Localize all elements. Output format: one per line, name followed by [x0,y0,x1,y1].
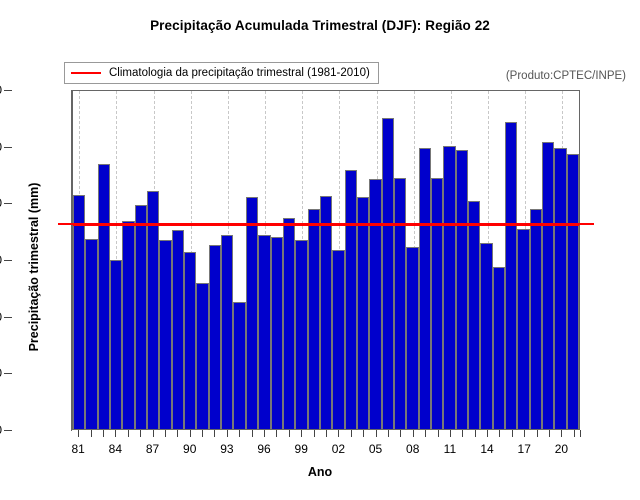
x-axis-title: Ano [0,465,640,479]
x-axis-tick-label: 14 [480,442,493,456]
y-axis-tick-label: 600 [0,253,2,267]
x-axis-tick-label: 02 [332,442,345,456]
y-axis-tick-label: 1000 [0,140,2,154]
x-axis-tick [78,430,79,437]
x-axis-tick [376,430,377,437]
x-axis-tick [289,430,290,437]
y-axis-tick [4,373,12,374]
x-axis-tick [190,430,191,437]
x-axis-tick-label: 96 [257,442,270,456]
x-axis-tick [512,430,513,437]
bar [159,240,171,429]
x-axis-tick [450,430,451,437]
x-axis-tick [103,430,104,437]
bar [480,243,492,429]
bar [443,146,455,429]
x-axis-tick [363,430,364,437]
x-axis-tick [252,430,253,437]
bar [172,230,184,429]
bar [135,205,147,429]
x-axis: 8184879093969902050811141720 [72,430,580,470]
x-axis-tick [580,430,581,437]
y-axis-tick [4,430,12,431]
bar [184,252,196,429]
chart-title: Precipitação Acumulada Trimestral (DJF):… [0,18,640,33]
x-axis-tick [165,430,166,437]
x-axis-tick-label: 87 [146,442,159,456]
bar [98,164,110,429]
x-axis-tick [438,430,439,437]
bar [419,148,431,429]
x-axis-tick [388,430,389,437]
x-axis-tick [475,430,476,437]
x-axis-tick-label: 99 [295,442,308,456]
bar [209,245,221,429]
bar-series [73,91,579,429]
x-axis-tick-label: 05 [369,442,382,456]
bar [542,142,554,429]
y-axis-tick [4,90,12,91]
y-axis-tick [4,147,12,148]
bar [357,197,369,429]
x-axis-tick [214,430,215,437]
x-axis-tick [140,430,141,437]
legend-line-swatch [71,72,101,74]
bar [369,179,381,429]
bar [73,195,85,429]
y-axis-tick-label: 0 [0,423,2,437]
x-axis-tick [425,430,426,437]
chart-container: Precipitação Acumulada Trimestral (DJF):… [0,0,640,500]
x-axis-tick [153,430,154,437]
bar [505,122,517,429]
bar [493,267,505,429]
bar [233,302,245,429]
bar [122,221,134,429]
x-axis-tick [462,430,463,437]
bar [295,240,307,429]
x-axis-tick [549,430,550,437]
bar [271,237,283,429]
bar [406,247,418,429]
legend-label: Climatologia da precipitação trimestral … [109,67,370,79]
bar [85,239,97,429]
x-axis-tick [524,430,525,437]
bar [394,178,406,429]
bar [382,118,394,429]
x-axis-tick [487,430,488,437]
bar [147,191,159,429]
climatology-line-extension [58,223,594,225]
bar [468,201,480,429]
y-axis-tick-label: 800 [0,196,2,210]
x-axis-tick [314,430,315,437]
bar [456,150,468,429]
x-axis-tick [115,430,116,437]
x-axis-tick-label: 20 [555,442,568,456]
x-axis-tick [413,430,414,437]
bar [554,148,566,429]
x-axis-tick-label: 08 [406,442,419,456]
bar [196,283,208,429]
x-axis-tick-label: 17 [518,442,531,456]
x-axis-tick [326,430,327,437]
x-axis-tick [276,430,277,437]
plot-area [72,90,580,430]
product-annotation: (Produto:CPTEC/INPE) [506,70,626,82]
x-axis-tick [128,430,129,437]
x-axis-tick [227,430,228,437]
y-axis-tick [4,203,12,204]
bar [332,250,344,429]
bar [246,197,258,429]
x-axis-tick [338,430,339,437]
x-axis-tick [301,430,302,437]
x-axis-tick [499,430,500,437]
bar [431,178,443,429]
bar [345,170,357,429]
x-axis-tick-label: 90 [183,442,196,456]
y-axis-tick-label: 1200 [0,83,2,97]
x-axis-tick [91,430,92,437]
x-axis-tick [537,430,538,437]
x-axis-tick-label: 93 [220,442,233,456]
bar [221,235,233,429]
x-axis-tick [264,430,265,437]
bar [530,209,542,429]
x-axis-tick-label: 11 [444,442,456,456]
bar [258,235,270,429]
x-axis-tick [561,430,562,437]
x-axis-tick-label: 84 [109,442,122,456]
y-axis-tick [4,317,12,318]
y-axis-title: Precipitação trimestral (mm) [27,137,41,397]
bar [110,260,122,429]
y-axis-tick-label: 400 [0,310,2,324]
bar [308,209,320,429]
y-axis-tick [4,260,12,261]
x-axis-tick [202,430,203,437]
y-axis-tick-label: 200 [0,366,2,380]
x-axis-tick [351,430,352,437]
x-axis-tick [177,430,178,437]
bar [283,218,295,429]
x-axis-tick [400,430,401,437]
bar [567,154,579,429]
bar [320,196,332,429]
x-axis-tick [239,430,240,437]
x-axis-tick [574,430,575,437]
bar [517,229,529,429]
x-axis-tick-label: 81 [72,442,85,456]
legend: Climatologia da precipitação trimestral … [64,62,379,84]
